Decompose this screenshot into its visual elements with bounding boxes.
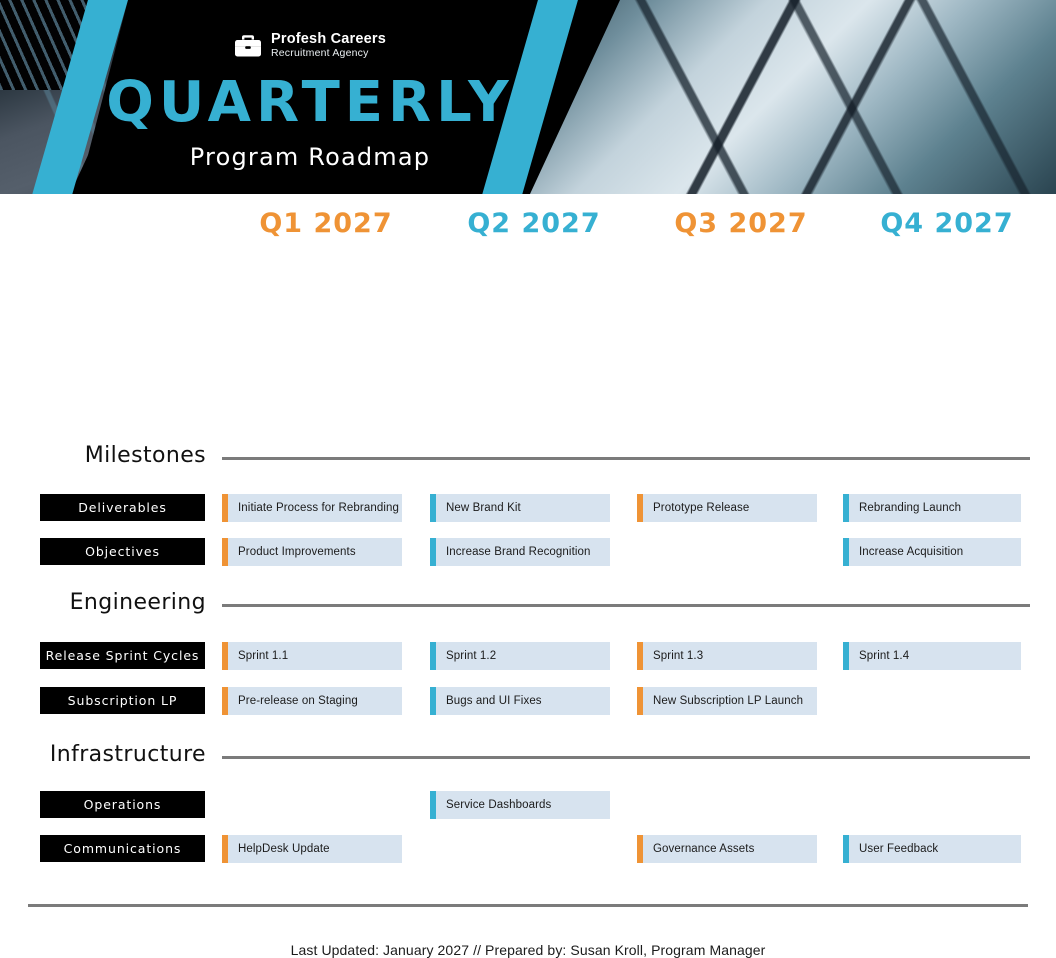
roadmap-cell[interactable]: Bugs and UI Fixes [430, 687, 610, 715]
cell-label: Pre-release on Staging [228, 695, 358, 707]
cell-label: Initiate Process for Rebranding [228, 502, 399, 514]
cell-label: Sprint 1.3 [643, 650, 703, 662]
roadmap-cell[interactable]: User Feedback [843, 835, 1021, 863]
cell-label: HelpDesk Update [228, 843, 330, 855]
cell-label: Increase Brand Recognition [436, 546, 591, 558]
roadmap-cell[interactable]: Sprint 1.3 [637, 642, 817, 670]
cell-label: Service Dashboards [436, 799, 551, 811]
brand-logo: Profesh Careers Recruitment Agency [234, 32, 386, 59]
cell-label: Product Improvements [228, 546, 356, 558]
footer-divider [28, 904, 1028, 907]
roadmap-board: Q1 2027Q2 2027Q3 2027Q4 2027 MilestonesD… [0, 194, 1056, 816]
cell-label: Sprint 1.1 [228, 650, 288, 662]
cell-label: Governance Assets [643, 843, 754, 855]
page-header: Profesh Careers Recruitment Agency QUART… [0, 0, 1056, 194]
section-title-engineering: Engineering [0, 590, 206, 615]
roadmap-cell[interactable]: HelpDesk Update [222, 835, 402, 863]
roadmap-cell[interactable]: Service Dashboards [430, 791, 610, 819]
briefcase-icon [234, 33, 262, 58]
row-label-communications[interactable]: Communications [40, 835, 205, 862]
cell-label: Prototype Release [643, 502, 749, 514]
cell-label: Rebranding Launch [849, 502, 961, 514]
roadmap-cell[interactable]: Increase Brand Recognition [430, 538, 610, 566]
roadmap-cell[interactable]: Product Improvements [222, 538, 402, 566]
roadmap-cell[interactable]: Sprint 1.4 [843, 642, 1021, 670]
cell-label: Increase Acquisition [849, 546, 963, 558]
roadmap-cell[interactable]: Sprint 1.2 [430, 642, 610, 670]
section-rule-infrastructure [222, 756, 1030, 759]
quarter-header-3: Q3 2027 [637, 208, 845, 239]
roadmap-cell[interactable]: Governance Assets [637, 835, 817, 863]
roadmap-cell[interactable]: Prototype Release [637, 494, 817, 522]
page-title: QUARTERLY [0, 75, 620, 131]
roadmap-cell[interactable]: New Brand Kit [430, 494, 610, 522]
section-rule-engineering [222, 604, 1030, 607]
cell-label: Sprint 1.2 [436, 650, 496, 662]
footer-note: Last Updated: January 2027 // Prepared b… [0, 942, 1056, 958]
quarter-header-row: Q1 2027Q2 2027Q3 2027Q4 2027 [0, 208, 1056, 254]
row-label-objectives[interactable]: Objectives [40, 538, 205, 565]
section-rule-milestones [222, 457, 1030, 460]
header-content: Profesh Careers Recruitment Agency QUART… [0, 0, 620, 194]
cell-label: Sprint 1.4 [849, 650, 909, 662]
quarter-header-4: Q4 2027 [843, 208, 1051, 239]
roadmap-cell[interactable]: Sprint 1.1 [222, 642, 402, 670]
brand-tagline: Recruitment Agency [271, 48, 386, 59]
roadmap-cell[interactable]: Pre-release on Staging [222, 687, 402, 715]
brand-name: Profesh Careers [271, 32, 386, 48]
cell-label: User Feedback [849, 843, 938, 855]
roadmap-cell[interactable]: Initiate Process for Rebranding [222, 494, 402, 522]
cell-label: New Subscription LP Launch [643, 695, 803, 707]
section-title-infrastructure: Infrastructure [0, 742, 206, 767]
row-label-deliverables[interactable]: Deliverables [40, 494, 205, 521]
cell-label: Bugs and UI Fixes [436, 695, 542, 707]
row-label-operations[interactable]: Operations [40, 791, 205, 818]
roadmap-cell[interactable]: Increase Acquisition [843, 538, 1021, 566]
row-label-subscription-lp[interactable]: Subscription LP [40, 687, 205, 714]
quarter-header-2: Q2 2027 [430, 208, 638, 239]
quarter-header-1: Q1 2027 [222, 208, 430, 239]
section-title-milestones: Milestones [0, 443, 206, 468]
brand-logo-text: Profesh Careers Recruitment Agency [271, 32, 386, 59]
cell-label: New Brand Kit [436, 502, 521, 514]
roadmap-cell[interactable]: New Subscription LP Launch [637, 687, 817, 715]
page-subtitle: Program Roadmap [0, 143, 620, 171]
roadmap-cell[interactable]: Rebranding Launch [843, 494, 1021, 522]
row-label-release-sprint-cycles[interactable]: Release Sprint Cycles [40, 642, 205, 669]
